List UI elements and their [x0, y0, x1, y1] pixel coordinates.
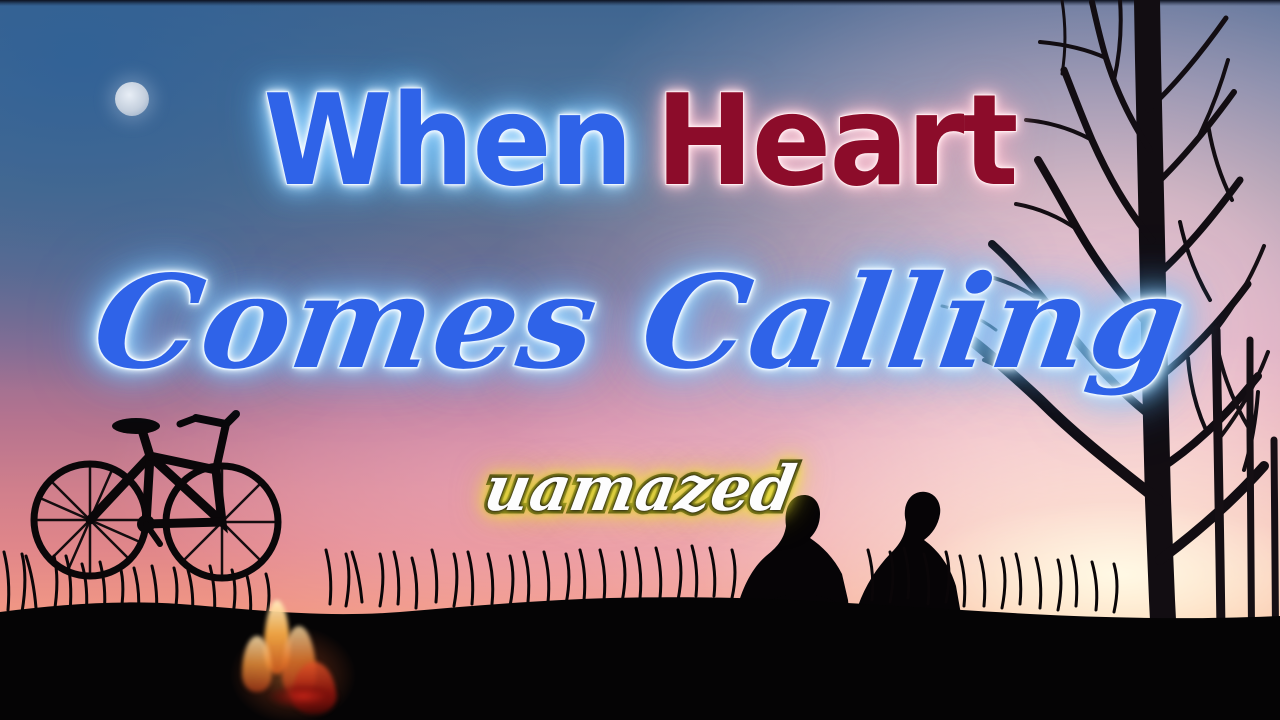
video-frame: WhenHeart Comes Calling uamazed — [0, 0, 1280, 720]
title-card-text: WhenHeart Comes Calling uamazed — [0, 0, 1280, 720]
song-title-line-2: Comes Calling — [0, 252, 1280, 395]
song-title-line-1: WhenHeart — [45, 78, 1235, 204]
title-word-when: When — [263, 67, 631, 214]
title-word-heart: Heart — [656, 67, 1017, 214]
artist-name: uamazed — [0, 455, 1280, 523]
